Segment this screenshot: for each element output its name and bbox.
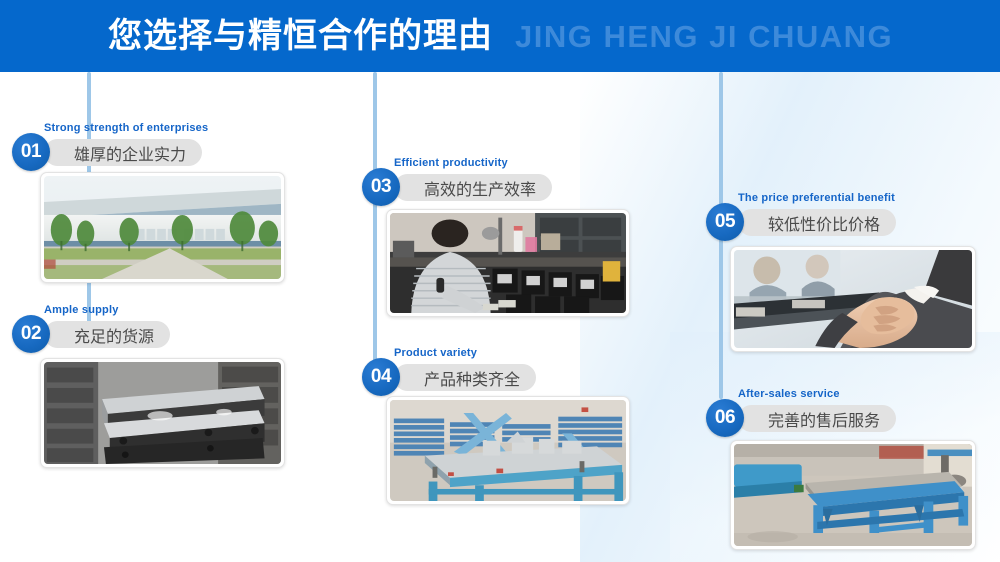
feature-photo-01[interactable] <box>40 172 285 283</box>
feature-number-badge-02: 02 <box>12 315 50 353</box>
connector-line-column-middle <box>373 72 377 176</box>
feature-photo-image-03 <box>390 213 626 313</box>
feature-number-badge-06: 06 <box>706 399 744 437</box>
feature-photo-06[interactable] <box>730 440 976 550</box>
feature-english-label-04: Product variety <box>394 347 477 359</box>
page-subtitle: JING HENG JI CHUANG <box>515 21 893 52</box>
page-title: 您选择与精恒合作的理由 <box>108 19 493 53</box>
feature-english-label-05: The price preferential benefit <box>738 192 895 204</box>
feature-number-badge-05: 05 <box>706 203 744 241</box>
feature-english-label-02: Ample supply <box>44 304 119 316</box>
feature-photo-image-06 <box>734 444 972 546</box>
feature-number-badge-01: 01 <box>12 133 50 171</box>
feature-photo-03[interactable] <box>386 209 630 317</box>
feature-photo-image-01 <box>44 176 281 279</box>
feature-photo-04[interactable] <box>386 396 630 505</box>
feature-chinese-pill-02: 充足的货源 <box>44 321 170 348</box>
connector-line-column-right <box>719 72 723 208</box>
feature-chinese-pill-03: 高效的生产效率 <box>394 174 552 201</box>
feature-photo-image-02 <box>44 362 281 464</box>
feature-chinese-pill-06: 完善的售后服务 <box>738 405 896 432</box>
feature-photo-image-05 <box>734 250 972 348</box>
feature-english-label-06: After-sales service <box>738 388 840 400</box>
feature-number-badge-04: 04 <box>362 358 400 396</box>
feature-number-badge-03: 03 <box>362 168 400 206</box>
feature-photo-image-04 <box>390 400 626 501</box>
feature-photo-02[interactable] <box>40 358 285 468</box>
feature-chinese-pill-01: 雄厚的企业实力 <box>44 139 202 166</box>
feature-chinese-pill-05: 较低性价比价格 <box>738 209 896 236</box>
feature-english-label-03: Efficient productivity <box>394 157 508 169</box>
page-header: 您选择与精恒合作的理由 JING HENG JI CHUANG <box>0 0 1000 72</box>
feature-english-label-01: Strong strength of enterprises <box>44 122 208 134</box>
feature-photo-05[interactable] <box>730 246 976 352</box>
feature-chinese-pill-04: 产品种类齐全 <box>394 364 536 391</box>
